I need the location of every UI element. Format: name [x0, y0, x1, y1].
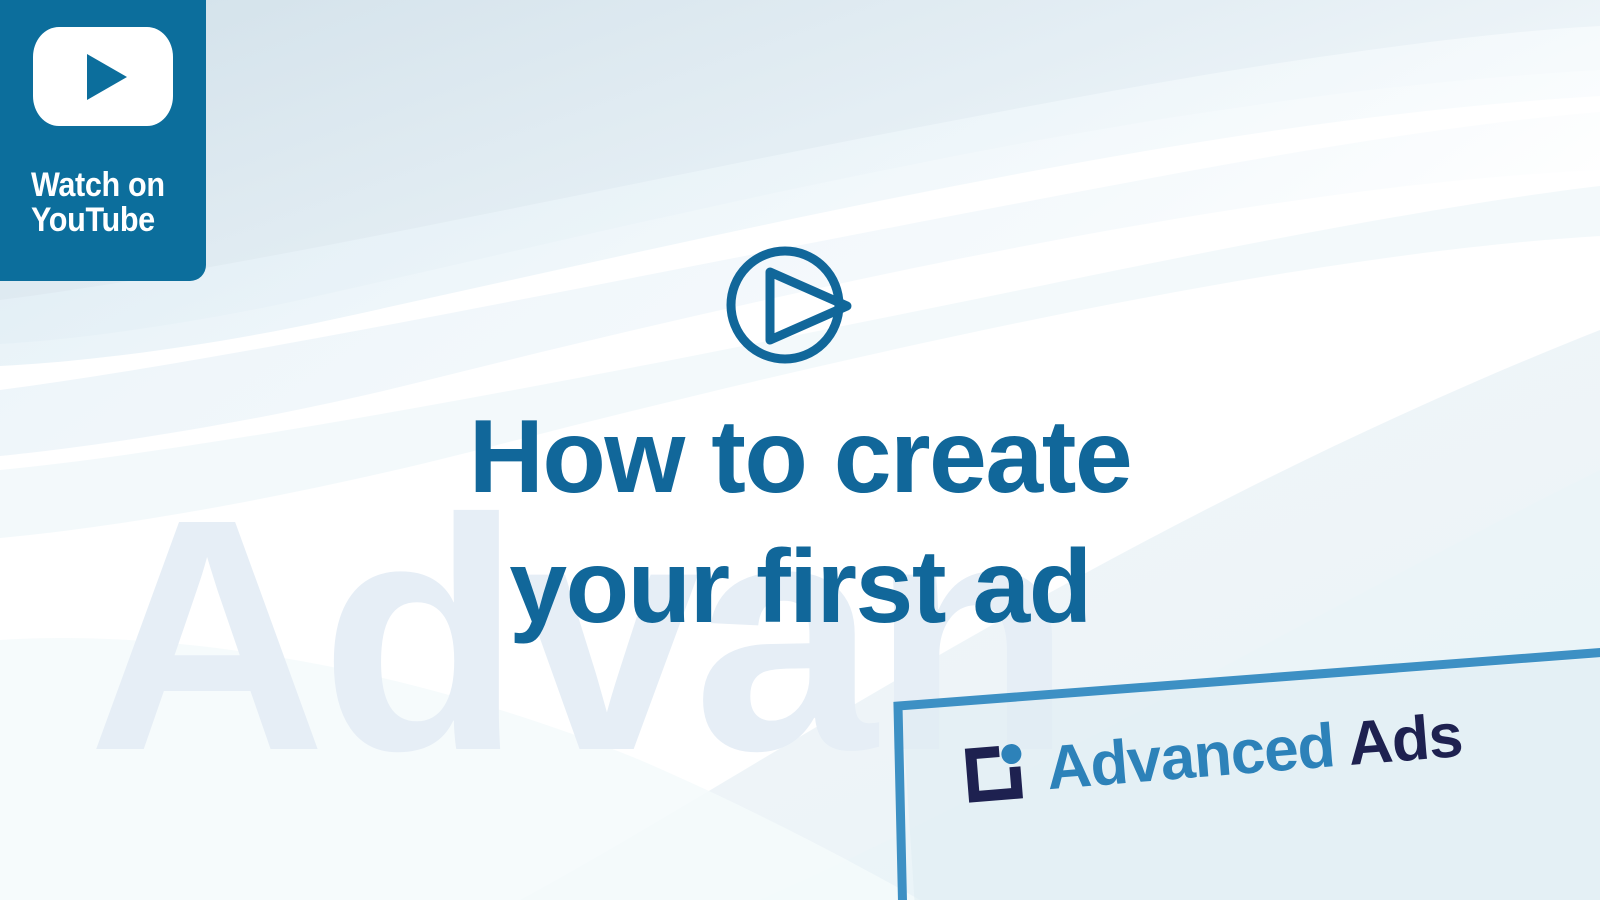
- thumbnail-canvas: Advan How to create your first ad Advanc…: [0, 0, 1600, 900]
- advanced-ads-logo-mark: [961, 740, 1028, 807]
- play-circle-icon[interactable]: [713, 242, 865, 370]
- youtube-play-icon: [33, 27, 173, 126]
- watch-on-youtube-label: Watch on YouTube: [31, 168, 165, 238]
- youtube-icon-triangle: [87, 54, 127, 100]
- logo-word-ads: Ads: [1345, 701, 1464, 779]
- watch-on-youtube-badge[interactable]: Watch on YouTube: [0, 0, 206, 281]
- page-title: How to create your first ad: [0, 392, 1600, 652]
